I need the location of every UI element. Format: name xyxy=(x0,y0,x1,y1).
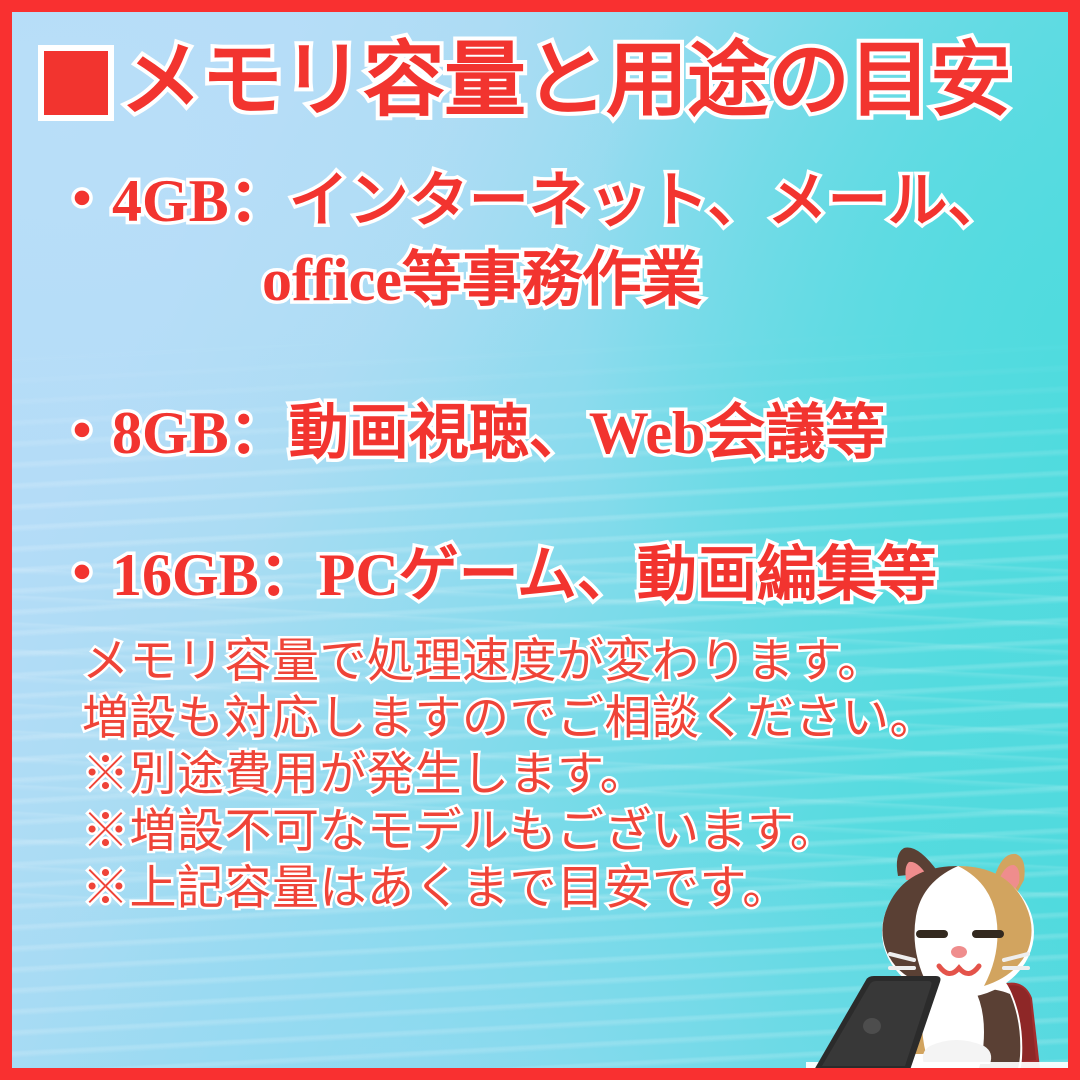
spec-16gb-line1: ・16GB：PCゲーム、動画編集等 xyxy=(52,536,1042,615)
calico-cat-with-laptop-icon xyxy=(806,834,1080,1080)
list-item: ・16GB：PCゲーム、動画編集等 xyxy=(52,536,1042,615)
list-item: ・8GB：動画視聴、Web会議等 xyxy=(52,394,1042,473)
note-line-1: メモリ容量で処理速度が変わります。 xyxy=(82,634,1062,691)
page-title: メモリ容量と用途の目安 xyxy=(38,40,1011,122)
poster-canvas: メモリ容量と用途の目安 ・4GB：インターネット、メール、 office等事務作… xyxy=(0,0,1080,1080)
spec-list: ・4GB：インターネット、メール、 office等事務作業 ・8GB：動画視聴、… xyxy=(52,162,1042,615)
note-line-3: ※別途費用が発生します。 xyxy=(82,747,1062,804)
spec-4gb-line1: ・4GB：インターネット、メール、 xyxy=(52,162,1042,241)
list-gap xyxy=(52,474,1042,536)
list-gap xyxy=(52,320,1042,394)
list-item: ・4GB：インターネット、メール、 office等事務作業 xyxy=(52,162,1042,320)
note-line-2: 増設も対応しますのでご相談ください。 xyxy=(82,691,1062,748)
spec-4gb-line2: office等事務作業 xyxy=(52,241,1042,320)
page-title-text: メモリ容量と用途の目安 xyxy=(120,40,1011,122)
square-bullet-icon xyxy=(38,45,114,121)
spec-8gb-line1: ・8GB：動画視聴、Web会議等 xyxy=(52,394,1042,473)
